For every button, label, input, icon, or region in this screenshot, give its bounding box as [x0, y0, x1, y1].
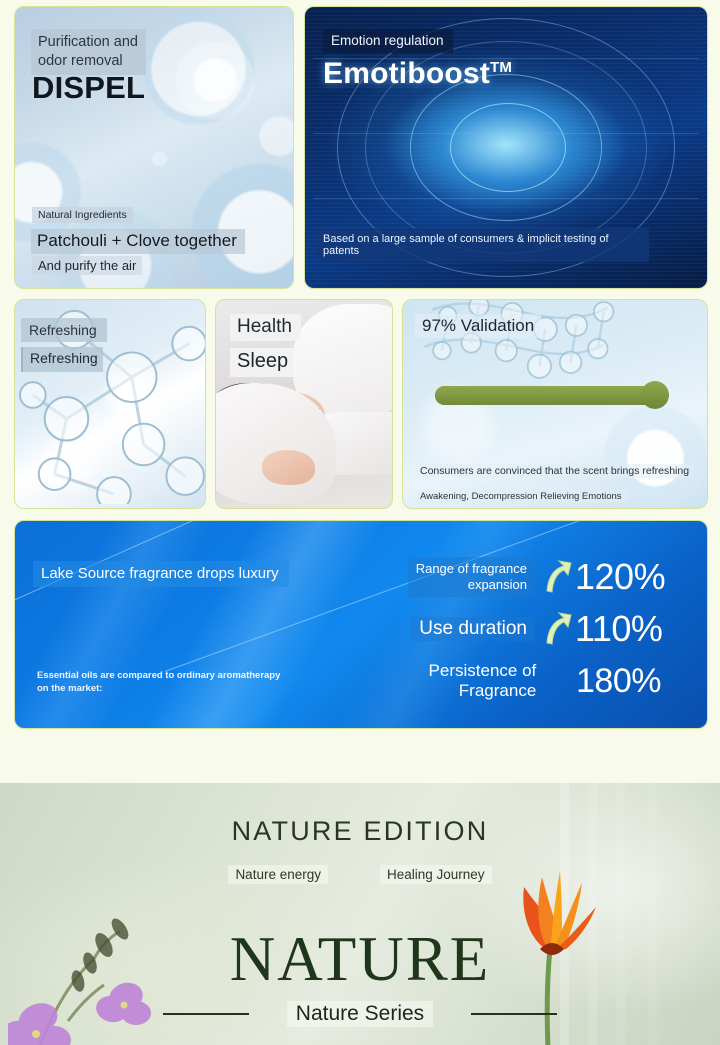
validation-title: 97% Validation: [415, 314, 541, 338]
validation-slider-fill: [435, 386, 655, 405]
sleep-label-2: Sleep: [230, 348, 297, 377]
divider-right: [471, 1013, 557, 1015]
nature-big-title: NATURE: [0, 923, 720, 996]
trademark-symbol: TM: [490, 59, 512, 76]
brain-arc: [450, 103, 567, 193]
promo-row-2: Refreshing Refreshing Health Sleep: [14, 299, 708, 509]
validation-slider-knob[interactable]: [641, 381, 669, 409]
card-sleep[interactable]: Health Sleep: [215, 299, 393, 509]
nature-tag: Nature energy: [228, 865, 328, 884]
stats-list: Range of fragrance expansion 120% Use du…: [348, 551, 693, 707]
stat-value: 120%: [575, 556, 693, 598]
stat-value: 110%: [575, 608, 693, 650]
stat-label: Use duration: [411, 617, 535, 641]
nature-edition-title: NATURE EDITION: [0, 816, 720, 847]
nature-tag: Healing Journey: [380, 865, 492, 884]
card-refreshing[interactable]: Refreshing Refreshing: [14, 299, 206, 509]
refreshing-label-2: Refreshing: [21, 347, 103, 372]
promo-row-1: Purification and odor removal DISPEL Nat…: [14, 6, 708, 289]
hand: [262, 450, 315, 485]
stat-row: Range of fragrance expansion 120%: [348, 551, 693, 603]
emotiboost-caption: Based on a large sample of consumers & i…: [315, 228, 649, 262]
stat-value: 180%: [576, 662, 693, 701]
nature-series-label: Nature Series: [287, 1001, 433, 1027]
card-validation[interactable]: 97% Validation Consumers are convinced t…: [402, 299, 708, 509]
scan-line: [313, 198, 699, 199]
validation-text-1: Consumers are convinced that the scent b…: [415, 464, 694, 478]
dispel-ingredients-label: Natural Ingredients: [32, 207, 133, 223]
refreshing-label-1: Refreshing: [21, 318, 107, 342]
nature-tags: Nature energy Healing Journey: [0, 865, 720, 884]
promo-row-3: Lake Source fragrance drops luxury Essen…: [14, 520, 708, 729]
arrow-placeholder: [544, 664, 574, 698]
up-arrow-icon: [543, 560, 573, 594]
sleep-label-1: Health: [230, 314, 301, 341]
card-dispel[interactable]: Purification and odor removal DISPEL Nat…: [14, 6, 294, 289]
up-arrow-icon: [543, 612, 573, 646]
card-stats[interactable]: Lake Source fragrance drops luxury Essen…: [14, 520, 708, 729]
dispel-kicker: Purification and odor removal: [31, 29, 146, 75]
promo-section: Purification and odor removal DISPEL Nat…: [0, 0, 720, 783]
validation-slider-track[interactable]: [435, 386, 662, 405]
nature-banner: NATURE EDITION Nature energy Healing Jou…: [0, 783, 720, 1045]
dispel-sub-line: And purify the air: [32, 256, 142, 275]
emotiboost-kicker: Emotion regulation: [323, 29, 453, 53]
card-emotiboost[interactable]: Emotion regulation EmotiboostTM Based on…: [304, 6, 708, 289]
scan-line: [313, 133, 699, 134]
dispel-mid-line: Patchouli + Clove together: [31, 229, 245, 254]
validation-text-2: Awakening, Decompression Relieving Emoti…: [415, 490, 627, 503]
emotiboost-title: EmotiboostTM: [323, 57, 512, 91]
stats-title: Lake Source fragrance drops luxury: [33, 561, 289, 587]
product-detail-page: Purification and odor removal DISPEL Nat…: [0, 0, 720, 1045]
stat-label: Persistence of Fragrance: [348, 661, 536, 701]
emotiboost-title-text: Emotiboost: [323, 57, 490, 90]
stat-row: Use duration 110%: [348, 603, 693, 655]
stats-note: Essential oils are compared to ordinary …: [37, 669, 287, 695]
divider-left: [163, 1013, 249, 1015]
nature-footer: Nature Series: [0, 1001, 720, 1027]
dispel-title: DISPEL: [32, 70, 145, 106]
stat-row: Persistence of Fragrance 180%: [348, 655, 693, 707]
stat-label: Range of fragrance expansion: [408, 557, 535, 596]
